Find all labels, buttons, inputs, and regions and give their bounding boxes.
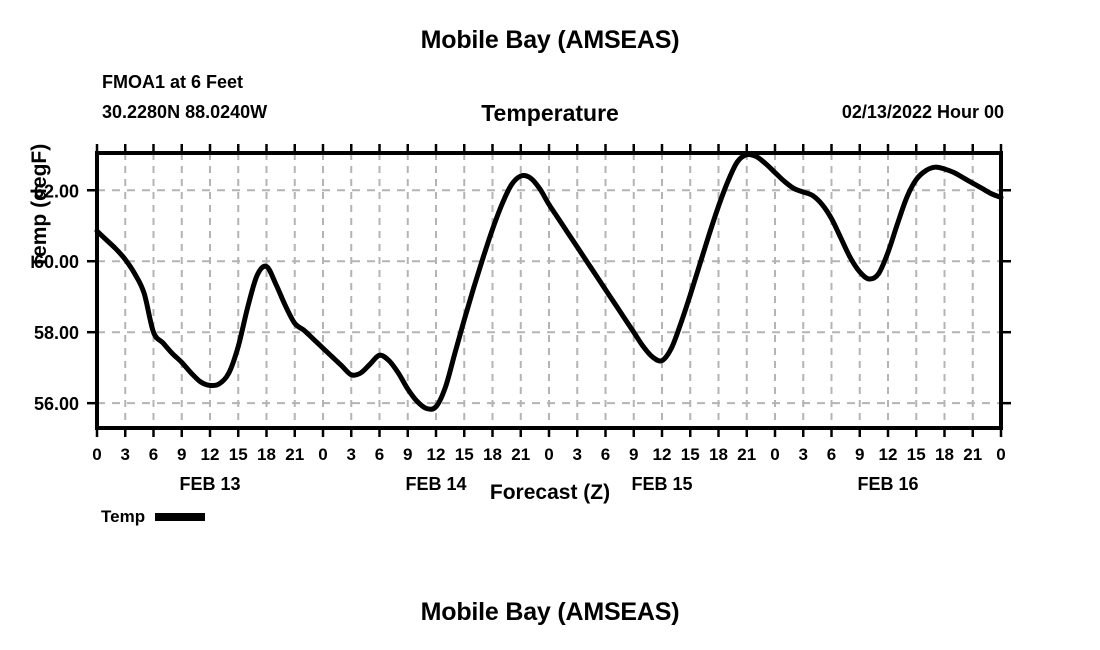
legend-label-temp: Temp	[101, 507, 145, 527]
x-tick-label: 0	[92, 445, 101, 464]
x-tick-label: 9	[177, 445, 186, 464]
x-tick-label: 12	[427, 445, 446, 464]
x-tick-label: 12	[879, 445, 898, 464]
x-tick-label: 21	[737, 445, 756, 464]
x-tick-label: 18	[709, 445, 728, 464]
x-tick-label: 18	[257, 445, 276, 464]
x-tick-label: 3	[121, 445, 130, 464]
temperature-line-chart: 56.0058.0060.0062.00 0369121518210369121…	[0, 0, 1100, 650]
x-tick-label: 9	[855, 445, 864, 464]
x-tick-label: 6	[375, 445, 384, 464]
station-label: FMOA1 at 6 Feet	[102, 72, 243, 93]
x-tick-label: 12	[653, 445, 672, 464]
y-tick-label: 58.00	[34, 323, 79, 343]
x-tick-label: 18	[483, 445, 502, 464]
x-tick-label: 0	[770, 445, 779, 464]
y-tick-label: 56.00	[34, 394, 79, 414]
x-tick-label: 3	[799, 445, 808, 464]
x-tick-labels: 0369121518210369121518210369121518210369…	[92, 445, 1005, 464]
x-tick-label: 3	[347, 445, 356, 464]
x-tick-label: 12	[201, 445, 220, 464]
x-tick-label: 0	[318, 445, 327, 464]
plot-area: 56.0058.0060.0062.00 0369121518210369121…	[0, 0, 1100, 650]
x-tick-label: 15	[681, 445, 700, 464]
x-tick-label: 18	[935, 445, 954, 464]
x-tick-label: 6	[149, 445, 158, 464]
x-tick-label: 15	[455, 445, 474, 464]
legend-swatch-temp	[155, 513, 205, 521]
gridlines	[97, 153, 1001, 428]
axis-ticks	[87, 144, 1011, 437]
x-tick-label: 6	[601, 445, 610, 464]
x-tick-label: 21	[963, 445, 982, 464]
page-footer-title: Mobile Bay (AMSEAS)	[0, 598, 1100, 627]
page-title: Mobile Bay (AMSEAS)	[0, 26, 1100, 55]
x-tick-label: 0	[544, 445, 553, 464]
x-axis-title: Forecast (Z)	[0, 481, 1100, 505]
model-run-label: 02/13/2022 Hour 00	[842, 102, 1004, 123]
legend: Temp	[101, 507, 205, 527]
x-tick-label: 6	[827, 445, 836, 464]
x-tick-label: 21	[285, 445, 304, 464]
forecast-chart-page: Mobile Bay (AMSEAS) FMOA1 at 6 Feet 30.2…	[0, 0, 1100, 650]
x-tick-label: 15	[907, 445, 926, 464]
x-tick-label: 0	[996, 445, 1005, 464]
x-tick-label: 9	[403, 445, 412, 464]
x-tick-label: 9	[629, 445, 638, 464]
x-tick-label: 3	[573, 445, 582, 464]
x-tick-label: 15	[229, 445, 248, 464]
plot-frame	[97, 153, 1001, 428]
y-axis-title: Temp (degF)	[28, 96, 52, 316]
x-tick-label: 21	[511, 445, 530, 464]
series-line-temp	[97, 154, 1001, 409]
